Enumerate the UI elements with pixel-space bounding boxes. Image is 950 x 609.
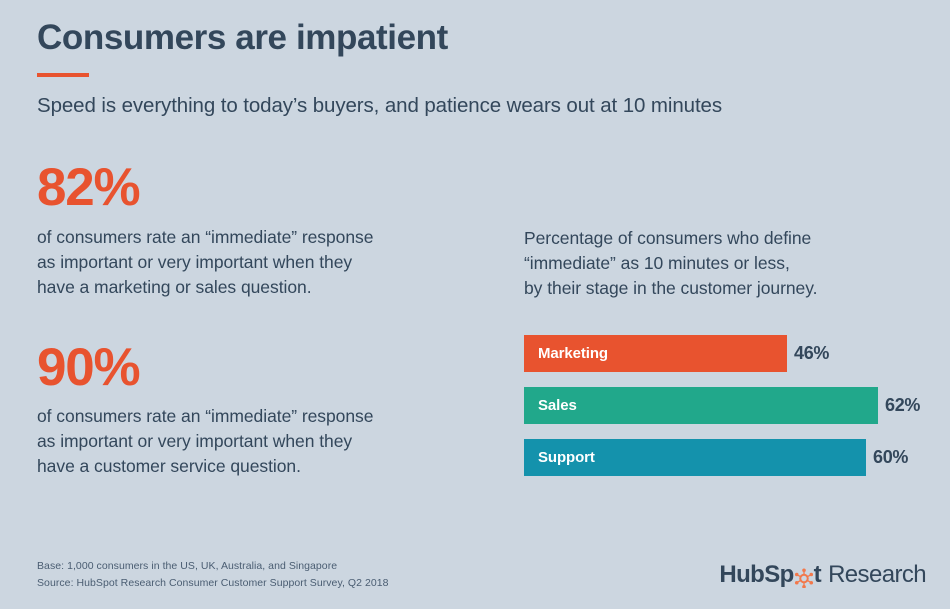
logo-sp-text: Sp (764, 561, 793, 589)
stats-column: 82% of consumers rate an “immediate” res… (37, 160, 477, 479)
bar-sales: Sales (524, 387, 878, 424)
sprocket-icon (794, 567, 814, 587)
header: Consumers are impatient Speed is everyth… (37, 18, 917, 120)
bar-row: Sales 62% (524, 387, 924, 424)
stat-block-marketing-sales: 82% of consumers rate an “immediate” res… (37, 160, 477, 300)
chart-caption-line: “immediate” as 10 minutes or less, (524, 251, 924, 276)
stat-description-line: of consumers rate an “immediate” respons… (37, 404, 477, 429)
stat-description-line: as important or very important when they (37, 250, 477, 275)
hubspot-research-logo: HubSp t Research (719, 561, 926, 589)
logo-hub-text: Hub (719, 561, 764, 589)
stat-description-line: of consumers rate an “immediate” respons… (37, 225, 477, 250)
infographic-root: Consumers are impatient Speed is everyth… (0, 0, 950, 609)
bar-label: Support (538, 449, 595, 466)
footer-source-note: Base: 1,000 consumers in the US, UK, Aus… (37, 558, 389, 591)
bar-row: Support 60% (524, 439, 924, 476)
stat-description-line: as important or very important when they (37, 429, 477, 454)
stat-description-line: have a marketing or sales question. (37, 275, 477, 300)
bar-value: 62% (885, 395, 920, 416)
bar-label: Marketing (538, 345, 608, 362)
logo-t-text: t (814, 561, 821, 589)
footer-source-line: Source: HubSpot Research Consumer Custom… (37, 575, 389, 591)
bar-label: Sales (538, 397, 577, 414)
bar-value: 46% (794, 343, 829, 364)
footer-base-line: Base: 1,000 consumers in the US, UK, Aus… (37, 558, 389, 574)
stat-description: of consumers rate an “immediate” respons… (37, 404, 477, 479)
stat-description: of consumers rate an “immediate” respons… (37, 225, 477, 300)
bar-value: 60% (873, 447, 908, 468)
bar-chart: Marketing 46% Sales 62% Support 60% (524, 335, 924, 476)
stat-block-customer-service: 90% of consumers rate an “immediate” res… (37, 340, 477, 480)
page-title: Consumers are impatient (37, 18, 917, 57)
bar-row: Marketing 46% (524, 335, 924, 372)
page-subtitle: Speed is everything to today’s buyers, a… (37, 93, 917, 120)
chart-caption: Percentage of consumers who define “imme… (524, 226, 924, 301)
chart-caption-line: by their stage in the customer journey. (524, 276, 924, 301)
bar-support: Support (524, 439, 866, 476)
bar-marketing: Marketing (524, 335, 787, 372)
accent-rule-divider (37, 73, 89, 77)
stat-number: 82% (37, 160, 477, 216)
chart-column: Percentage of consumers who define “imme… (524, 226, 924, 476)
stat-description-line: have a customer service question. (37, 454, 477, 479)
logo-research-text: Research (828, 561, 926, 589)
chart-caption-line: Percentage of consumers who define (524, 226, 924, 251)
stat-number: 90% (37, 340, 477, 396)
